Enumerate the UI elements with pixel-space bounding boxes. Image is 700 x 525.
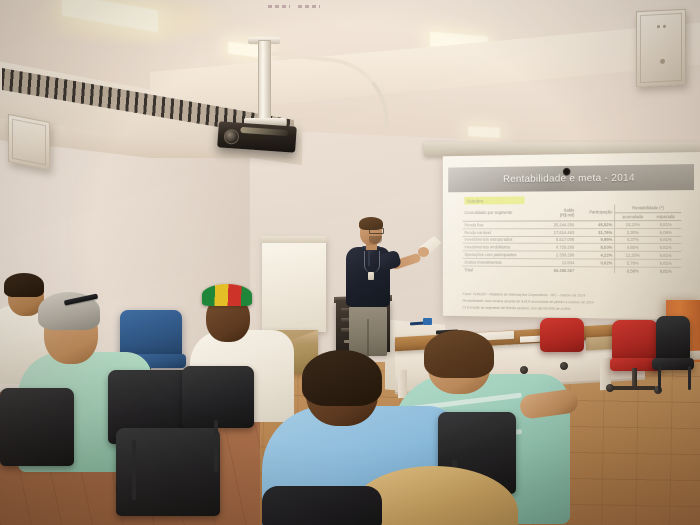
cell-esperada: 9,81% (650, 244, 681, 252)
blue-object (423, 318, 432, 325)
dark-stacking-chair[interactable] (656, 316, 690, 362)
cell-acumulada: 4,37% (615, 236, 650, 244)
cell-segment: Investimentos estruturados (463, 236, 542, 244)
conference-room-photo: Rentabilidade e meta - 2014 Outubro Cons… (0, 0, 700, 525)
slide-period-tag: Outubro (464, 196, 524, 204)
presenter-lanyard (364, 251, 380, 273)
chair-leg (658, 366, 661, 392)
cell-saldo: 17.614.493 (542, 228, 576, 236)
attendee-shirt (262, 486, 382, 525)
wall-speaker (8, 114, 50, 170)
col-header-esperada: esperada (650, 212, 681, 221)
cell-acumulada: 4,85% (615, 244, 650, 252)
cell-esperada: 6,06% (650, 228, 681, 236)
cell-esperada: 9,81% (650, 251, 681, 259)
cell-acumulada: 2,30% (615, 228, 650, 236)
dark-stacking-chair[interactable] (0, 388, 74, 466)
projector-highlight (240, 127, 288, 136)
cell-acumulada: 10,22% (615, 221, 650, 229)
col-header-saldo-unit: (R$ mil) (560, 213, 574, 218)
cell-acumulada: 5,79% (615, 259, 650, 267)
presenter-badge (368, 272, 374, 280)
cell-segment: Renda variável (463, 229, 542, 237)
projector-ceiling-mount (258, 40, 271, 130)
table-total-row: Total 55.458.367 6,58% 9,81% (463, 266, 682, 275)
chair-leg (132, 440, 136, 500)
flipchart-writing (298, 5, 320, 8)
knit-cap (202, 284, 252, 306)
col-header-segment: Consolidado por segmento (463, 205, 542, 221)
projector (217, 121, 297, 152)
cell-total-esperada: 9,81% (650, 267, 681, 274)
cell-segment: Renda fixa (463, 221, 542, 229)
col-header-saldo-label: Saldo (564, 207, 575, 212)
cell-participacao: 9,95% (576, 236, 615, 244)
wall-speaker (636, 9, 686, 88)
cell-saldo: 5.517.008 (542, 236, 576, 244)
slide-table: Consolidado por segmento Saldo (R$ mil) … (463, 204, 682, 274)
cell-esperada: 9,81% (650, 236, 681, 244)
cell-esperada: 9,81% (650, 259, 681, 267)
cell-participacao: 45,52% (576, 221, 615, 229)
col-header-acumulada: acumulada (615, 212, 650, 221)
projection-screen: Rentabilidade e meta - 2014 Outubro Cons… (443, 152, 700, 320)
cell-saldo: 4.729.269 (542, 244, 576, 252)
flipchart-writing (268, 5, 290, 8)
slide-footnotes: Fonte: FUNCEF - Relatório de Informações… (463, 291, 686, 314)
cell-participacao: 31,76% (576, 228, 615, 236)
slide-table-body: Renda fixa 25.244.256 45,52% 10,22% 9,81… (463, 221, 682, 275)
flipchart-clamp (261, 236, 327, 243)
red-office-chair[interactable] (612, 320, 658, 362)
chair-wheel (606, 384, 614, 392)
cell-total-participacao (576, 266, 615, 273)
col-header-participacao: Participação (576, 205, 615, 221)
col-header-saldo: Saldo (R$ mil) (542, 205, 576, 221)
cell-saldo: 2.339.298 (542, 251, 576, 259)
cell-total-saldo: 55.458.367 (542, 266, 576, 273)
presenter-placket (368, 251, 370, 266)
slide: Rentabilidade e meta - 2014 Outubro Cons… (443, 152, 700, 320)
projector-lens-icon (223, 129, 239, 145)
ceiling-light-panel (468, 126, 500, 138)
table-row: Renda variável 17.614.493 31,76% 2,30% 6… (463, 228, 682, 236)
slide-period-label: Outubro (464, 198, 483, 203)
attendee-hair (302, 350, 382, 406)
speaker-grille-icon (640, 13, 682, 83)
cell-saldo: 25.244.256 (542, 221, 576, 229)
cell-total-label: Total (463, 266, 542, 274)
chair-leg (214, 420, 218, 472)
cell-participacao: 8,53% (576, 244, 615, 252)
cell-total-acumulada: 6,58% (615, 267, 650, 274)
presenter-beard (369, 236, 382, 244)
cell-acumulada: 12,20% (615, 251, 650, 259)
attendee-foreground-shoulder (262, 486, 382, 525)
slide-title-bar: Rentabilidade e meta - 2014 (448, 164, 694, 192)
cell-esperada: 9,81% (650, 221, 681, 229)
glasses-icon (369, 228, 384, 234)
dark-stacking-chair[interactable] (182, 366, 254, 428)
slide-table-head: Consolidado por segmento Saldo (R$ mil) … (463, 204, 682, 221)
chair-base (612, 386, 656, 390)
chair-leg (688, 366, 691, 390)
cell-participacao: 4,22% (576, 251, 615, 259)
speaker-grille-icon (12, 119, 46, 166)
